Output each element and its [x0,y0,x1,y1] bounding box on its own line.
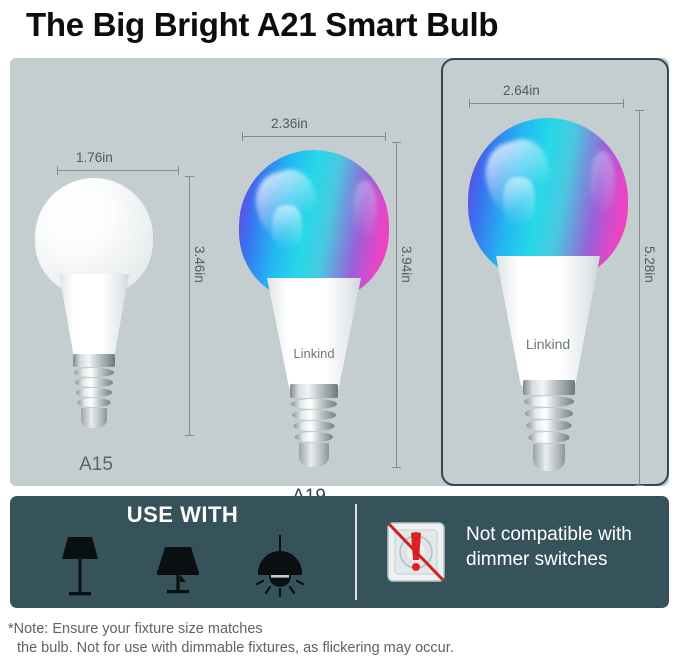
footnote-line-1: *Note: Ensure your fixture size matches [8,621,263,637]
a21-width-label: 2.64in [503,83,540,98]
dimmer-switch-prohibited-icon [384,520,452,586]
bulb-graphic-a21: Linkind [468,118,628,486]
a19-brand-label: Linkind [239,346,389,361]
fixture-icon-row [32,532,332,604]
incompatible-line-1: Not compatible with [466,522,666,547]
a15-width-label: 1.76in [76,150,113,165]
a19-screw-base [290,384,338,468]
a21-width-dimension-line [469,103,624,104]
a15-height-label: 3.46in [192,246,207,283]
page-title: The Big Bright A21 Smart Bulb [26,2,666,48]
a21-height-label: 5.28in [642,246,657,283]
size-comparison-panel: 1.76in 3.46in A15 [10,58,669,486]
a19-height-label: 3.94in [399,246,414,283]
a15-width-dimension-line [57,170,179,171]
a19-body [267,278,361,390]
a15-body [59,274,129,360]
a19-height-dimension-line [396,142,397,468]
a21-brand-label: Linkind [468,336,628,352]
footnote-line-2: the bulb. Not for use with dimmable fixt… [8,639,676,658]
a15-screw-base [73,354,115,428]
use-with-title: USE WITH [10,502,355,528]
incompatibility-section: Not compatible with dimmer switches [370,496,669,608]
footnote: *Note: Ensure your fixture size matches … [8,620,676,658]
bulb-name-a15: A15 [66,454,126,476]
incompatible-line-2: dimmer switches [466,547,666,572]
bulb-graphic-a19: Linkind [239,150,389,468]
bulb-graphic-a15 [35,178,153,428]
a21-body [496,256,600,386]
floor-lamp-icon [53,533,107,604]
a19-width-dimension-line [242,136,386,137]
table-lamp-icon [149,541,207,604]
a21-height-dimension-line [639,110,640,486]
product-infographic: The Big Bright A21 Smart Bulb 1.76in 3.4… [0,0,679,661]
usage-panel: USE WITH [10,496,669,608]
panel-divider [355,504,357,600]
use-with-section: USE WITH [10,496,355,608]
a15-height-dimension-line [189,176,190,436]
a19-width-label: 2.36in [271,116,308,131]
pendant-light-icon [249,533,311,604]
a21-screw-base [523,380,575,474]
incompatible-message: Not compatible with dimmer switches [466,522,666,572]
